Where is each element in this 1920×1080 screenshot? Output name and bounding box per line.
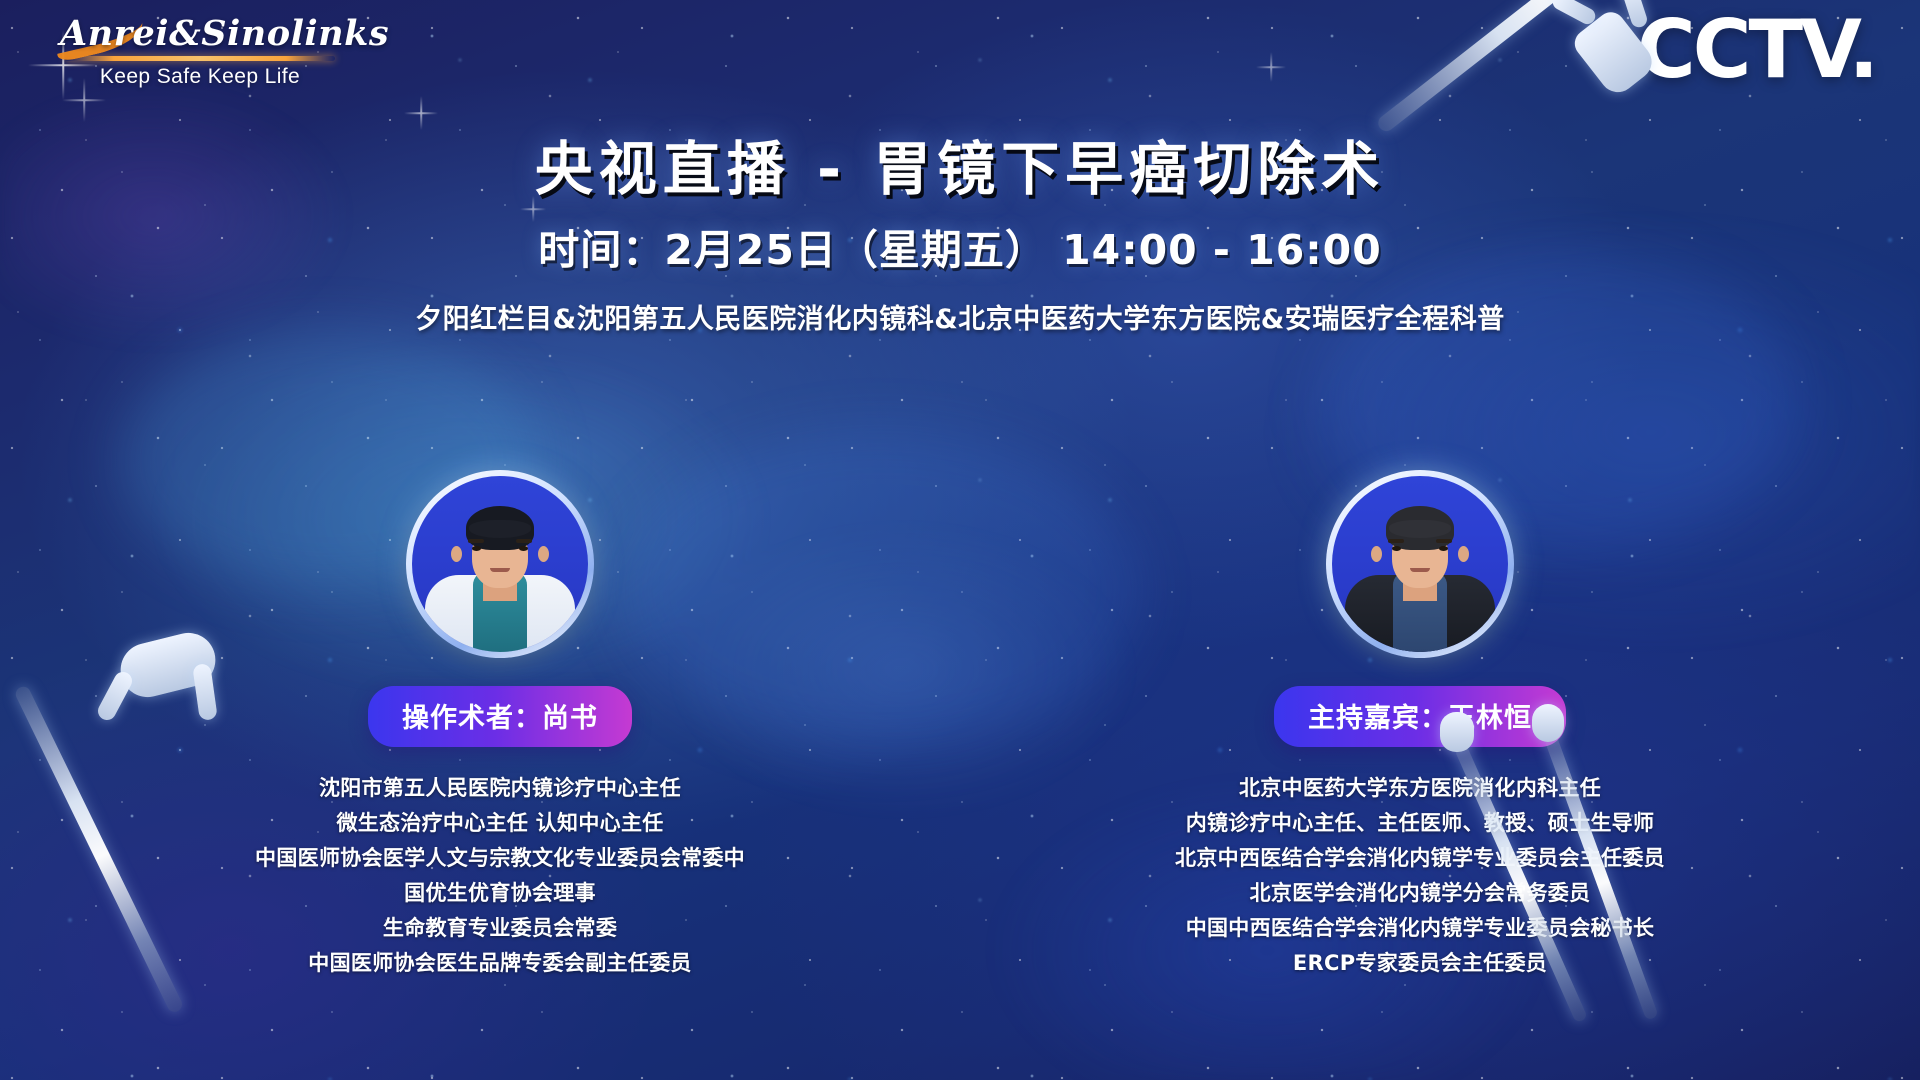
credentials-list-operator: 沈阳市第五人民医院内镜诊疗中心主任 微生态治疗中心主任 认知中心主任 中国医师协… (190, 771, 810, 981)
credential-item: ERCP专家委员会主任委员 (1110, 946, 1730, 981)
avatar-ear-right (1458, 546, 1469, 562)
avatar-brow-left (468, 539, 484, 543)
avatar-ear-left (451, 546, 462, 562)
credential-item: 北京中医药大学东方医院消化内科主任 (1110, 771, 1730, 806)
credential-item: 沈阳市第五人民医院内镜诊疗中心主任 (190, 771, 810, 806)
avatar-brow-left (1388, 539, 1404, 543)
speaker-card-operator: 操作术者：尚书 沈阳市第五人民医院内镜诊疗中心主任 微生态治疗中心主任 认知中心… (190, 470, 810, 981)
avatar-mouth (490, 568, 510, 572)
instrument-hook-left (95, 669, 135, 723)
avatar (412, 476, 588, 652)
credential-item: 生命教育专业委员会常委 (190, 911, 810, 946)
instrument-jaw-left (1550, 0, 1598, 27)
avatar-mouth (1410, 568, 1430, 572)
speaker-card-host: 主持嘉宾：王林恒 北京中医药大学东方医院消化内科主任 内镜诊疗中心主任、主任医师… (1110, 470, 1730, 981)
brand-tagline: Keep Safe Keep Life (60, 65, 340, 89)
brand-logo: Anrei&Sinolinks Keep Safe Keep Life (60, 16, 340, 89)
credential-item: 北京中西医结合学会消化内镜学专业委员会主任委员 (1110, 841, 1730, 876)
credential-item: 中国医师协会医学人文与宗教文化专业委员会常委中 (190, 841, 810, 876)
poster-canvas: Anrei&Sinolinks Keep Safe Keep Life CCTV… (0, 0, 1920, 1080)
brand-name: Anrei&Sinolinks (60, 16, 340, 51)
avatar-ear-right (538, 546, 549, 562)
credential-item: 内镜诊疗中心主任、主任医师、教授、硕士生导师 (1110, 806, 1730, 841)
avatar-brow-right (516, 539, 532, 543)
credential-item: 中国医师协会医生品牌专委会副主任委员 (190, 946, 810, 981)
cctv-logo: CCTV. (1637, 10, 1876, 90)
avatar-brow-right (1436, 539, 1452, 543)
event-time: 时间：2月25日（星期五） 14:00 - 16:00 (0, 216, 1920, 276)
credential-item: 中国中西医结合学会消化内镜学专业委员会秘书长 (1110, 911, 1730, 946)
brand-divider (65, 56, 335, 61)
credential-item: 北京医学会消化内镜学分会常务委员 (1110, 876, 1730, 911)
credentials-list-host: 北京中医药大学东方医院消化内科主任 内镜诊疗中心主任、主任医师、教授、硕士生导师… (1110, 771, 1730, 981)
avatar-fringe (1389, 520, 1451, 538)
avatar-ring (1326, 470, 1514, 658)
avatar-ring (406, 470, 594, 658)
event-organizations: 夕阳红栏目&沈阳第五人民医院消化内镜科&北京中医药大学东方医院&安瑞医疗全程科普 (0, 297, 1920, 336)
avatar (1332, 476, 1508, 652)
sparkle-star-5 (1256, 52, 1286, 82)
speaker-badge-operator: 操作术者：尚书 (368, 686, 632, 747)
avatar-ear-left (1371, 546, 1382, 562)
credential-item: 微生态治疗中心主任 认知中心主任 (190, 806, 810, 841)
avatar-fringe (469, 520, 531, 538)
instrument-shaft (13, 684, 184, 1014)
speaker-badge-host: 主持嘉宾：王林恒 (1274, 686, 1566, 747)
page-title: 央视直播 - 胃镜下早癌切除术 (0, 122, 1920, 206)
credential-item: 国优生优育协会理事 (190, 876, 810, 911)
